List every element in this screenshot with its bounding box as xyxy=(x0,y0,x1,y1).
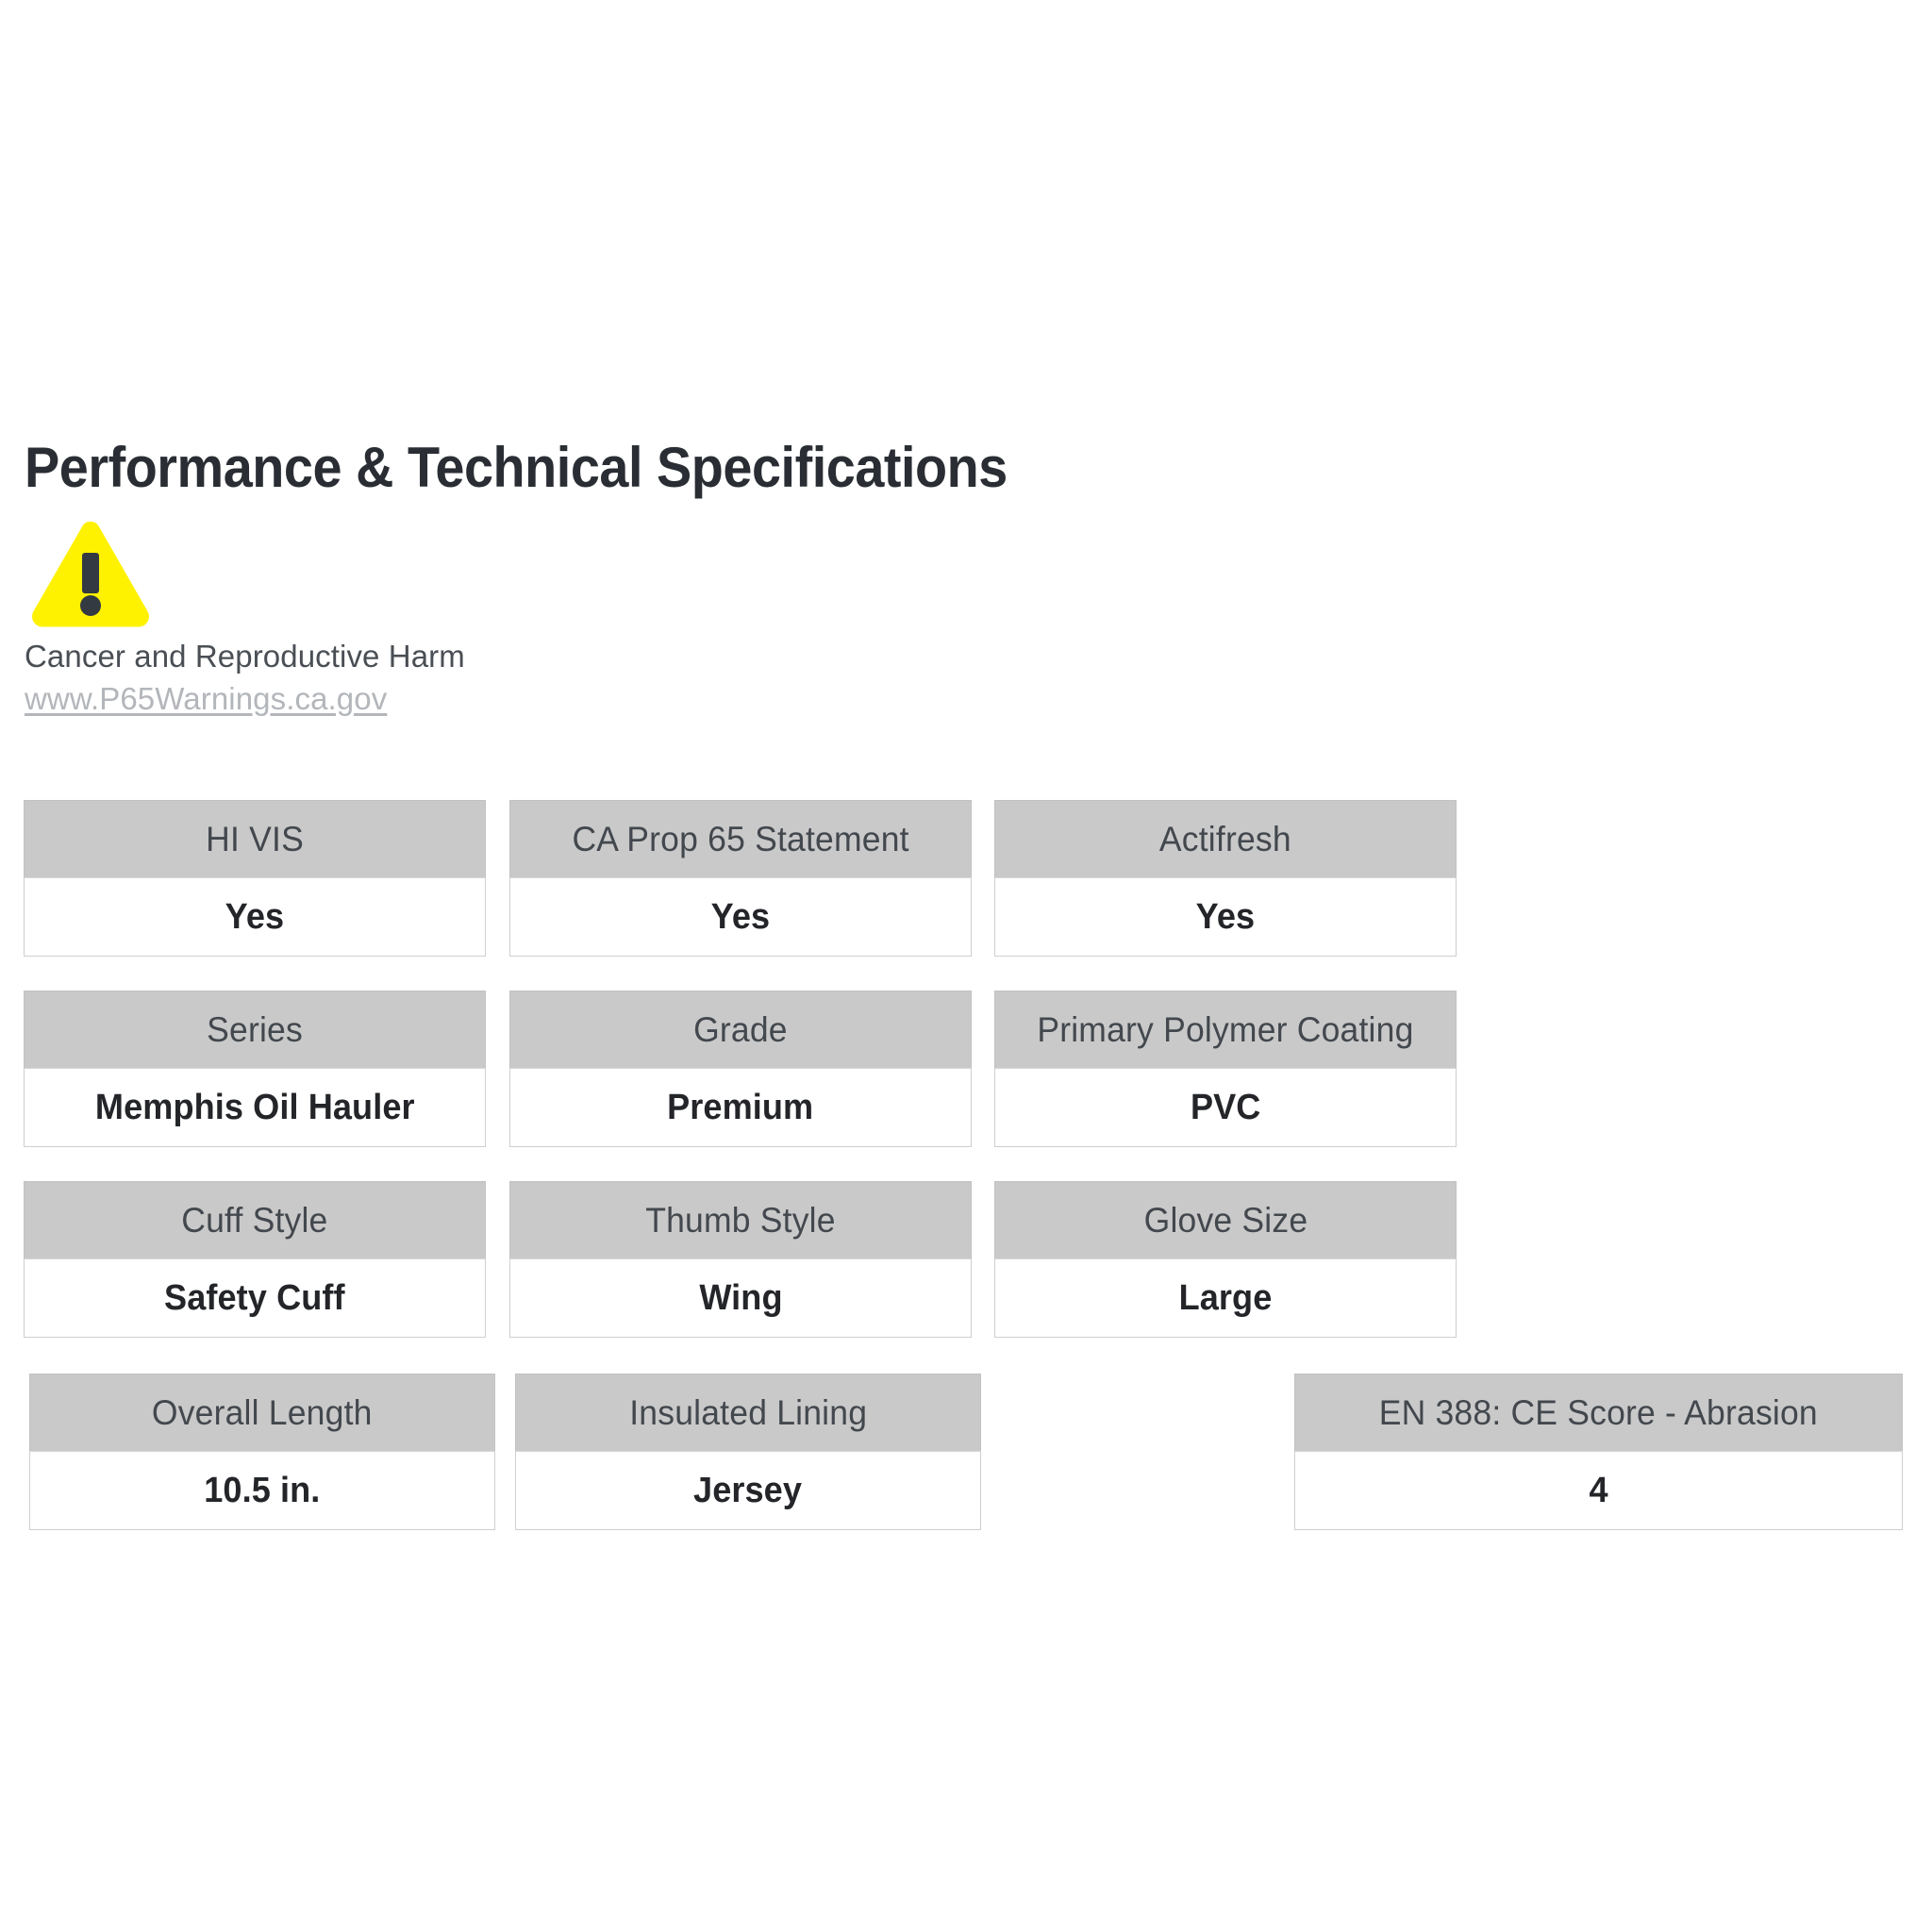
spec-card-label: Glove Size xyxy=(1143,1201,1307,1241)
spec-card: EN 388: CE Score - Abrasion4 xyxy=(1294,1374,1903,1530)
spec-card-value: PVC xyxy=(1191,1088,1261,1128)
spec-card-label: HI VIS xyxy=(206,820,304,859)
spec-card-value-box: Wing xyxy=(509,1258,972,1338)
spec-card-label: Insulated Lining xyxy=(629,1393,867,1433)
spec-sheet-page: Performance & Technical Specifications C… xyxy=(0,0,1932,1932)
spec-card-value: Wing xyxy=(699,1278,782,1319)
spec-card-value-box: Memphis Oil Hauler xyxy=(24,1068,486,1147)
spec-card-value-box: Yes xyxy=(509,877,972,957)
spec-card-value-box: Large xyxy=(994,1258,1457,1338)
spec-card: Glove SizeLarge xyxy=(994,1181,1457,1338)
spec-card-value: Large xyxy=(1179,1278,1273,1319)
spec-card-header: EN 388: CE Score - Abrasion xyxy=(1294,1374,1903,1451)
spec-card: ActifreshYes xyxy=(994,800,1457,957)
spec-card: GradePremium xyxy=(509,991,972,1147)
spec-card-value: Yes xyxy=(225,897,285,938)
p65-warnings-link[interactable]: www.P65Warnings.ca.gov xyxy=(25,681,387,717)
spec-card-value-box: 10.5 in. xyxy=(29,1451,495,1530)
spec-card-value: Safety Cuff xyxy=(164,1278,345,1319)
spec-card-header: Insulated Lining xyxy=(515,1374,981,1451)
spec-card: Insulated LiningJersey xyxy=(515,1374,981,1530)
spec-card-label: Overall Length xyxy=(152,1393,373,1433)
spec-card: HI VISYes xyxy=(24,800,486,957)
spec-card-value-box: PVC xyxy=(994,1068,1457,1147)
spec-card-label: EN 388: CE Score - Abrasion xyxy=(1379,1393,1818,1433)
spec-card-label: Thumb Style xyxy=(645,1201,836,1241)
spec-card: Cuff StyleSafety Cuff xyxy=(24,1181,486,1338)
spec-card-value-box: 4 xyxy=(1294,1451,1903,1530)
spec-card-value-box: Yes xyxy=(994,877,1457,957)
spec-card: Primary Polymer CoatingPVC xyxy=(994,991,1457,1147)
spec-card-value-box: Safety Cuff xyxy=(24,1258,486,1338)
spec-card-value: 10.5 in. xyxy=(204,1471,320,1511)
spec-card-header: Actifresh xyxy=(994,800,1457,877)
spec-card-value: Premium xyxy=(667,1088,813,1128)
spec-card-value: Yes xyxy=(711,897,771,938)
spec-card-value: Memphis Oil Hauler xyxy=(95,1088,415,1128)
spec-card-value-box: Jersey xyxy=(515,1451,981,1530)
warning-text: Cancer and Reproductive Harm xyxy=(25,636,685,677)
spec-card-header: Thumb Style xyxy=(509,1181,972,1258)
warning-triangle-icon xyxy=(25,517,157,628)
spec-card-header: HI VIS xyxy=(24,800,486,877)
spec-card-value: 4 xyxy=(1589,1471,1607,1511)
page-title: Performance & Technical Specifications xyxy=(25,438,1008,497)
spec-card-header: Series xyxy=(24,991,486,1068)
spec-card-value: Yes xyxy=(1196,897,1256,938)
spec-card: CA Prop 65 StatementYes xyxy=(509,800,972,957)
spec-card-label: Actifresh xyxy=(1159,820,1291,859)
spec-card-label: Primary Polymer Coating xyxy=(1037,1010,1413,1050)
prop65-warning-block: Cancer and Reproductive Harm www.P65Warn… xyxy=(25,517,685,717)
spec-card-label: CA Prop 65 Statement xyxy=(572,820,908,859)
spec-card: Thumb StyleWing xyxy=(509,1181,972,1338)
spec-card-header: Primary Polymer Coating xyxy=(994,991,1457,1068)
spec-card-header: Grade xyxy=(509,991,972,1068)
spec-card-value-box: Yes xyxy=(24,877,486,957)
spec-card: Overall Length10.5 in. xyxy=(29,1374,495,1530)
spec-card: SeriesMemphis Oil Hauler xyxy=(24,991,486,1147)
spec-card-header: Cuff Style xyxy=(24,1181,486,1258)
spec-card-value: Jersey xyxy=(693,1471,802,1511)
spec-card-label: Grade xyxy=(693,1010,788,1050)
spec-card-label: Cuff Style xyxy=(181,1201,327,1241)
spec-card-header: CA Prop 65 Statement xyxy=(509,800,972,877)
spec-card-label: Series xyxy=(207,1010,303,1050)
spec-card-value-box: Premium xyxy=(509,1068,972,1147)
spec-card-header: Glove Size xyxy=(994,1181,1457,1258)
spec-card-header: Overall Length xyxy=(29,1374,495,1451)
